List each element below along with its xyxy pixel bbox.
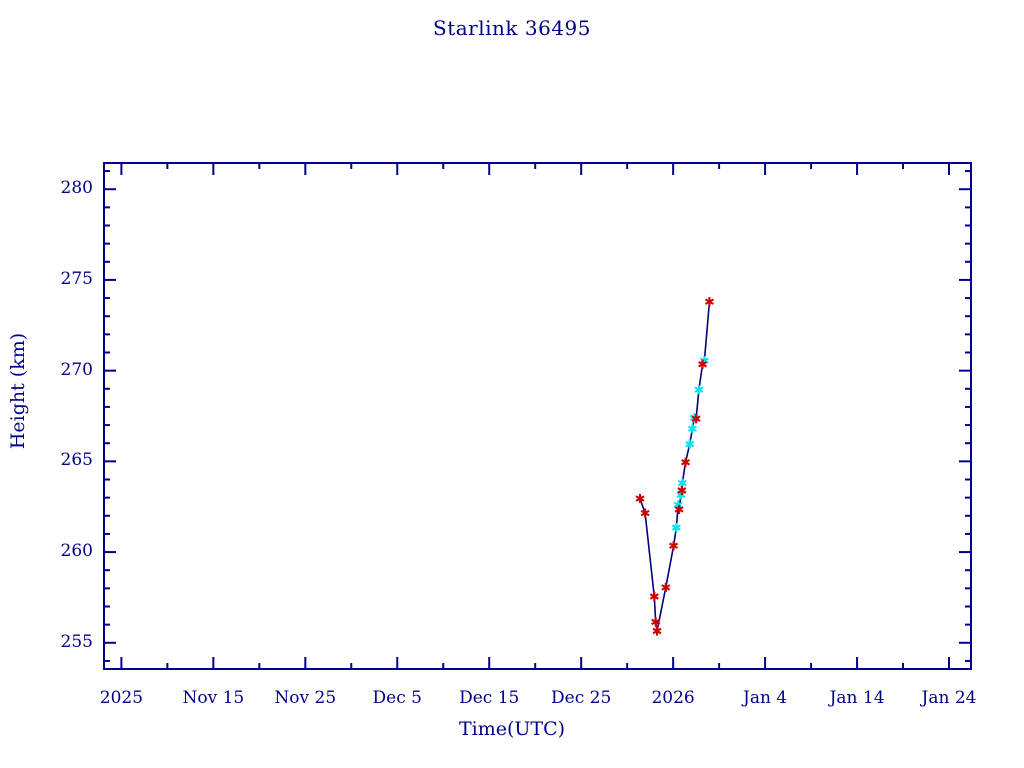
y-axis-title: Height (km) — [7, 321, 29, 461]
x-tick-label: Jan 24 — [889, 688, 1009, 708]
plot-area-frame — [103, 162, 972, 670]
y-tick-label: 280 — [7, 178, 93, 198]
x-axis-title: Time(UTC) — [0, 718, 1024, 740]
y-tick-label: 255 — [7, 632, 93, 652]
y-tick-label: 275 — [7, 269, 93, 289]
y-tick-label: 260 — [7, 541, 93, 561]
page-title: Starlink 36495 — [0, 16, 1024, 40]
chart-canvas: Starlink 36495 255260265270275280 2025No… — [0, 0, 1024, 768]
